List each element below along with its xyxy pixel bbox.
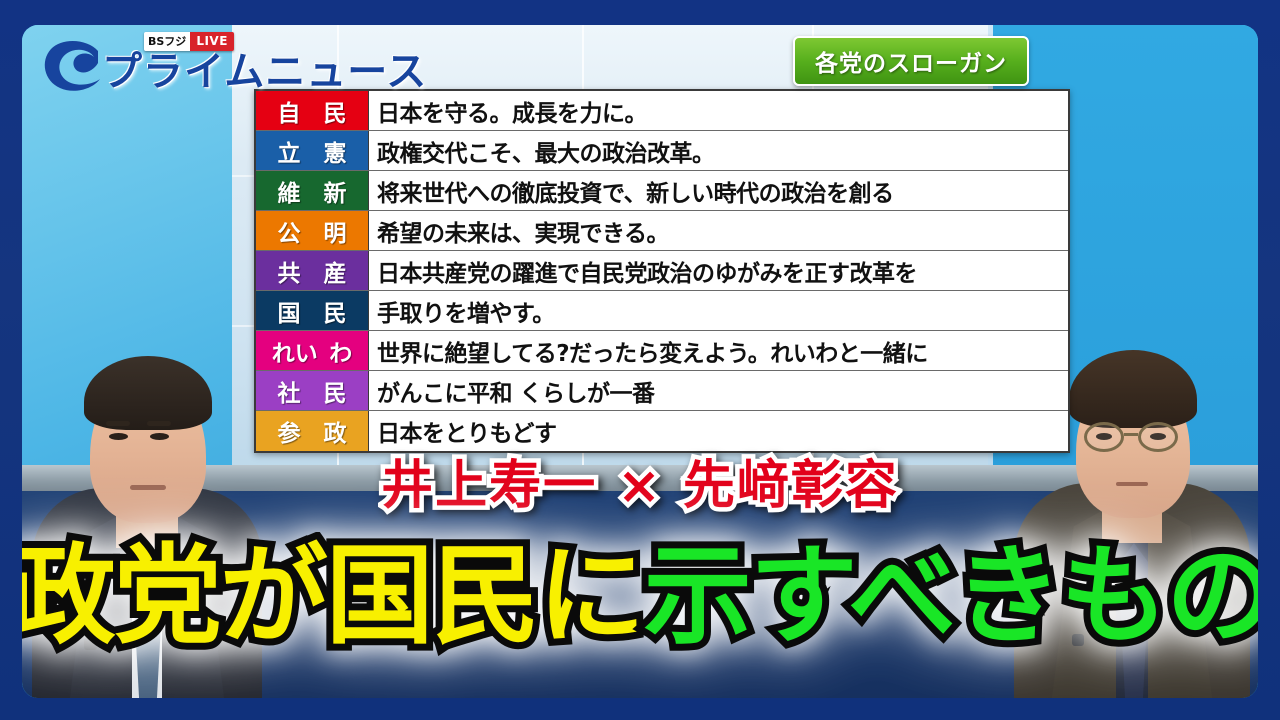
party-name-char: 社: [278, 374, 301, 408]
table-row: れいわ世界に絶望してる?だったら変えよう。れいわと一緒に: [256, 331, 1068, 371]
panelist-hair: [1069, 350, 1197, 428]
party-name-cell: 社民: [256, 371, 369, 410]
channel-badge-label: BSフジ: [144, 32, 190, 51]
broadcast-stage: プライムニュース BSフジ LIVE 各党のスローガン 自民日本を守る。成長を力…: [22, 25, 1258, 698]
headline-text: 政党が国民に示すべきもの: [22, 543, 1258, 651]
party-slogan-cell: 政権交代こそ、最大の政治改革。: [369, 131, 1068, 170]
party-name-char: わ: [329, 334, 352, 368]
party-name-char: 新: [324, 174, 347, 208]
party-name-char: 政: [324, 414, 347, 448]
party-name-char: れい: [272, 334, 318, 368]
host-hair: [84, 356, 212, 430]
headline-part-yellow: 政党が国民に: [22, 534, 644, 659]
host-mouth: [130, 485, 166, 490]
table-row: 立憲政権交代こそ、最大の政治改革。: [256, 131, 1068, 171]
swirl-e-logo-icon: [40, 37, 106, 97]
table-row: 公明希望の未来は、実現できる。: [256, 211, 1068, 251]
party-slogan-cell: 将来世代への徹底投資で、新しい時代の政治を創る: [369, 171, 1068, 210]
headline-part-green: 示すべきもの: [644, 534, 1258, 659]
host-eye-left: [109, 433, 128, 440]
program-logo: プライムニュース BSフジ LIVE: [36, 31, 436, 101]
party-name-char: 参: [278, 414, 301, 448]
party-slogan-table: 自民日本を守る。成長を力に。立憲政権交代こそ、最大の政治改革。維新将来世代への徹…: [254, 89, 1070, 453]
party-name-cell: 公明: [256, 211, 369, 250]
headline-band: 政党が国民に示すべきもの: [22, 495, 1258, 698]
panelist-glasses-bridge: [1124, 433, 1138, 436]
live-badge: BSフジ LIVE: [144, 32, 234, 51]
party-name-cell: れいわ: [256, 331, 369, 370]
table-row: 維新将来世代への徹底投資で、新しい時代の政治を創る: [256, 171, 1068, 211]
panelist-mouth: [1116, 482, 1148, 486]
host-eyebrow-left: [106, 421, 130, 426]
party-name-cell: 維新: [256, 171, 369, 210]
table-row: 国民手取りを増やす。: [256, 291, 1068, 331]
party-slogan-cell: 日本を守る。成長を力に。: [369, 91, 1068, 130]
party-slogan-cell: 希望の未来は、実現できる。: [369, 211, 1068, 250]
party-slogan-cell: 日本共産党の躍進で自民党政治のゆがみを正す改革を: [369, 251, 1068, 290]
party-name-char: 維: [278, 174, 301, 208]
party-slogan-cell: がんこに平和 くらしが一番: [369, 371, 1068, 410]
party-name-cell: 共産: [256, 251, 369, 290]
party-name-cell: 参政: [256, 411, 369, 451]
party-name-cell: 立憲: [256, 131, 369, 170]
party-slogan-cell: 手取りを増やす。: [369, 291, 1068, 330]
live-badge-label: LIVE: [190, 32, 234, 51]
panelist-glasses-left-lens: [1084, 422, 1124, 452]
party-name-char: 国: [278, 294, 301, 328]
party-name-char: 民: [324, 374, 347, 408]
panelist-glasses-right-lens: [1138, 422, 1178, 452]
host-eyebrow-right: [147, 421, 171, 426]
party-name-char: 明: [324, 214, 347, 248]
party-name-cell: 国民: [256, 291, 369, 330]
table-row: 共産日本共産党の躍進で自民党政治のゆがみを正す改革を: [256, 251, 1068, 291]
party-name-char: 憲: [324, 134, 347, 168]
party-name-char: 産: [324, 254, 347, 288]
party-name-char: 共: [278, 254, 301, 288]
party-name-char: 立: [278, 134, 301, 168]
table-row: 社民がんこに平和 くらしが一番: [256, 371, 1068, 411]
slogan-section-badge: 各党のスローガン: [793, 36, 1029, 86]
party-slogan-cell: 世界に絶望してる?だったら変えよう。れいわと一緒に: [369, 331, 1068, 370]
host-eye-right: [150, 433, 169, 440]
party-name-char: 民: [324, 294, 347, 328]
party-name-char: 公: [278, 214, 301, 248]
